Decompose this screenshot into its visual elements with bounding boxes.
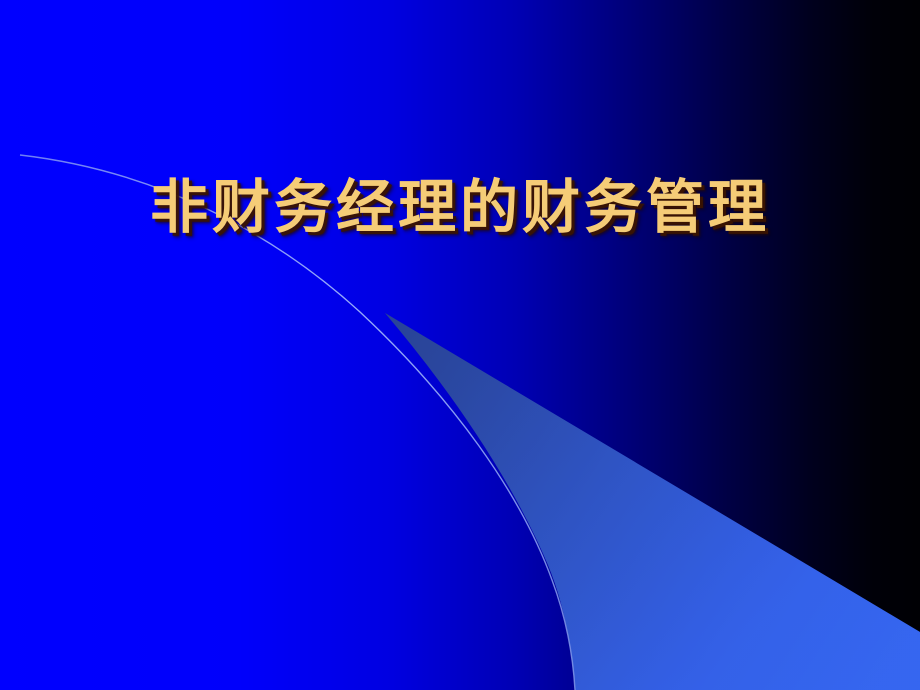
slide-decoration-graphics — [0, 0, 920, 690]
title-slide: 非财务经理的财务管理 — [0, 0, 920, 690]
curved-accent-wedge-highlight — [385, 313, 920, 690]
